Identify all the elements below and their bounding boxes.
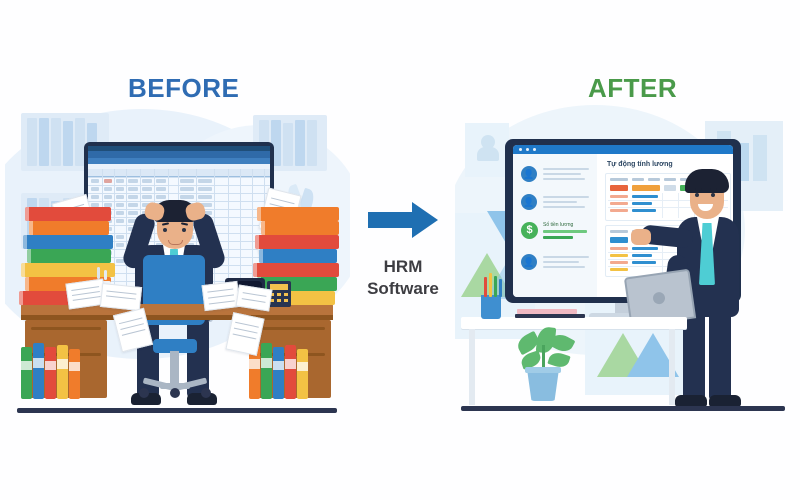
transition-label-line1: HRM — [350, 256, 456, 278]
window-dot — [519, 148, 522, 151]
desk-leg — [669, 329, 675, 405]
desk-paper — [100, 283, 142, 311]
drawer-line — [31, 327, 101, 330]
chair-caster — [201, 388, 211, 398]
book — [25, 207, 111, 221]
book — [29, 221, 109, 235]
desk-leg — [469, 329, 475, 405]
after-scene: 👤 👤 $ Số tiền lương — [455, 95, 795, 420]
sidebar-item-line — [543, 196, 589, 198]
sidebar-salary-label: Số tiền lương — [543, 222, 573, 228]
pencil — [489, 273, 492, 297]
sidebar-item-line — [543, 266, 585, 268]
transition-arrow — [368, 202, 438, 238]
steam-icon — [97, 267, 100, 279]
desk-paper — [202, 281, 241, 311]
binder — [21, 347, 32, 399]
book — [253, 263, 339, 277]
binder — [69, 349, 80, 399]
dollar-icon: $ — [521, 222, 538, 239]
eye-left — [163, 228, 167, 232]
chair-pole — [170, 351, 179, 385]
eyebrow-right — [710, 188, 717, 190]
eye-right — [711, 193, 715, 197]
pencil — [494, 276, 497, 297]
plant-pot — [527, 369, 559, 401]
steam-icon — [104, 270, 107, 280]
binder — [273, 347, 284, 399]
book — [23, 235, 113, 249]
pencil-cup — [481, 295, 501, 319]
floor-line-after — [461, 406, 785, 411]
leg-right — [709, 310, 731, 402]
dashboard-title: Tự động tính lương — [607, 161, 673, 168]
book — [261, 221, 339, 235]
eye-left — [695, 193, 699, 197]
notebook — [515, 314, 585, 318]
window-dot — [533, 148, 536, 151]
arrow-right-icon — [368, 202, 438, 238]
book — [21, 263, 115, 277]
shelf-binder — [295, 120, 305, 166]
shelf-binder — [307, 120, 317, 166]
binder — [45, 347, 56, 399]
chair-caster — [170, 388, 180, 398]
salary-progress — [543, 230, 587, 233]
dashboard-sidebar[interactable]: 👤 👤 $ Số tiền lương — [513, 154, 597, 297]
floor-line-before — [17, 408, 337, 413]
app-title-bar — [513, 145, 733, 154]
sidebar-item-line — [543, 206, 585, 208]
laptop-logo — [652, 291, 666, 305]
book — [259, 249, 337, 263]
pencil — [499, 279, 502, 297]
book — [27, 249, 111, 263]
sidebar-item-line — [543, 168, 589, 170]
shelf-binder — [51, 118, 61, 166]
binder — [297, 349, 308, 399]
binder — [33, 343, 44, 399]
transition-label: HRM Software — [350, 256, 456, 300]
shelf-binder — [39, 118, 49, 166]
sidebar-item-line — [543, 173, 581, 175]
spreadsheet-column-headers — [88, 169, 270, 177]
transition-label-line2: Software — [350, 278, 456, 300]
sidebar-item-line — [543, 261, 579, 263]
binder — [57, 345, 68, 399]
salary-progress-2 — [543, 236, 573, 239]
sidebar-item-line — [543, 201, 577, 203]
user-avatar-icon: 👤 — [521, 194, 537, 210]
sidebar-item-line — [543, 256, 589, 258]
hair — [685, 169, 729, 193]
user-avatar-icon: 👤 — [521, 166, 537, 182]
binder — [261, 343, 272, 399]
shelf-binder — [63, 121, 73, 166]
sidebar-item-line — [543, 178, 585, 180]
before-scene — [5, 95, 350, 420]
wall-frame-art — [477, 135, 499, 161]
window-dot — [526, 148, 529, 151]
binder — [285, 345, 296, 399]
book — [255, 235, 339, 249]
drawer-line — [257, 327, 325, 330]
book — [257, 207, 339, 221]
hand-pointing — [631, 229, 651, 245]
pot-rim — [525, 367, 561, 373]
chair-caster — [139, 388, 149, 398]
spreadsheet-ribbon — [88, 151, 270, 158]
eye-right — [182, 228, 186, 232]
pencil — [484, 277, 487, 297]
eyebrow-left — [695, 188, 702, 190]
user-avatar-icon: 👤 — [521, 254, 537, 270]
illustration-canvas: BEFORE AFTER — [0, 0, 800, 500]
shelf-binder — [27, 118, 37, 166]
shelf-binder — [283, 123, 293, 166]
